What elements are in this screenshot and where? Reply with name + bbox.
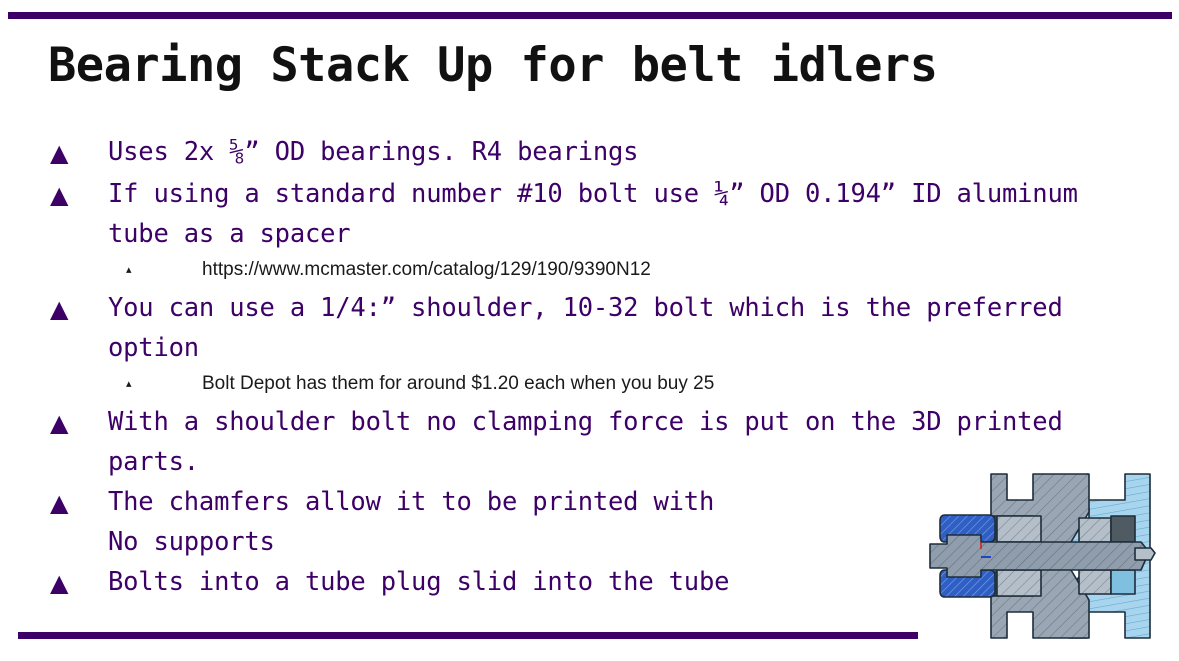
- list-item-label: The chamfers allow it to be printed with…: [108, 482, 748, 562]
- sub-list-item: ▴ Bolt Depot has them for around $1.20 e…: [48, 370, 1138, 398]
- list-item-label: If using a standard number #10 bolt use …: [108, 174, 1138, 254]
- page-title: Bearing Stack Up for belt idlers: [48, 42, 1048, 89]
- list-item-label: Uses 2x ⅝” OD bearings. R4 bearings: [108, 132, 1138, 172]
- sub-list-item: ▴ https://www.mcmaster.com/catalog/129/1…: [48, 256, 1138, 284]
- triangle-bullet-icon: ▲: [48, 288, 108, 330]
- triangle-bullet-icon: ▲: [48, 562, 108, 604]
- bolt-tip: [1135, 548, 1155, 560]
- small-triangle-bullet-icon: ▴: [48, 256, 202, 284]
- sub-list-item-link[interactable]: https://www.mcmaster.com/catalog/129/190…: [202, 256, 1138, 284]
- triangle-bullet-icon: ▲: [48, 174, 108, 216]
- ring-upper: [1079, 518, 1111, 542]
- small-triangle-bullet-icon: ▴: [48, 370, 202, 398]
- top-rule: [8, 12, 1172, 19]
- list-item: ▲ If using a standard number #10 bolt us…: [48, 174, 1138, 254]
- bottom-rule: [18, 632, 918, 639]
- triangle-bullet-icon: ▲: [48, 402, 108, 444]
- list-item: ▲ You can use a 1/4:” shoulder, 10-32 bo…: [48, 288, 1138, 368]
- triangle-bullet-icon: ▲: [48, 132, 108, 174]
- sub-list-item-label: Bolt Depot has them for around $1.20 eac…: [202, 370, 1138, 398]
- spacer-upper: [997, 516, 1041, 542]
- shoulder-bolt-shaft: [930, 535, 1149, 577]
- insert-upper: [1111, 516, 1135, 542]
- insert-lower: [1111, 570, 1135, 594]
- list-item-label: You can use a 1/4:” shoulder, 10-32 bolt…: [108, 288, 1138, 368]
- ring-lower: [1079, 570, 1111, 594]
- spacer-lower: [997, 570, 1041, 596]
- list-item: ▲ Uses 2x ⅝” OD bearings. R4 bearings: [48, 132, 1138, 174]
- triangle-bullet-icon: ▲: [48, 482, 108, 524]
- bearing-stack-cross-section-figure: [929, 452, 1179, 661]
- slide: Bearing Stack Up for belt idlers ▲ Uses …: [0, 0, 1179, 661]
